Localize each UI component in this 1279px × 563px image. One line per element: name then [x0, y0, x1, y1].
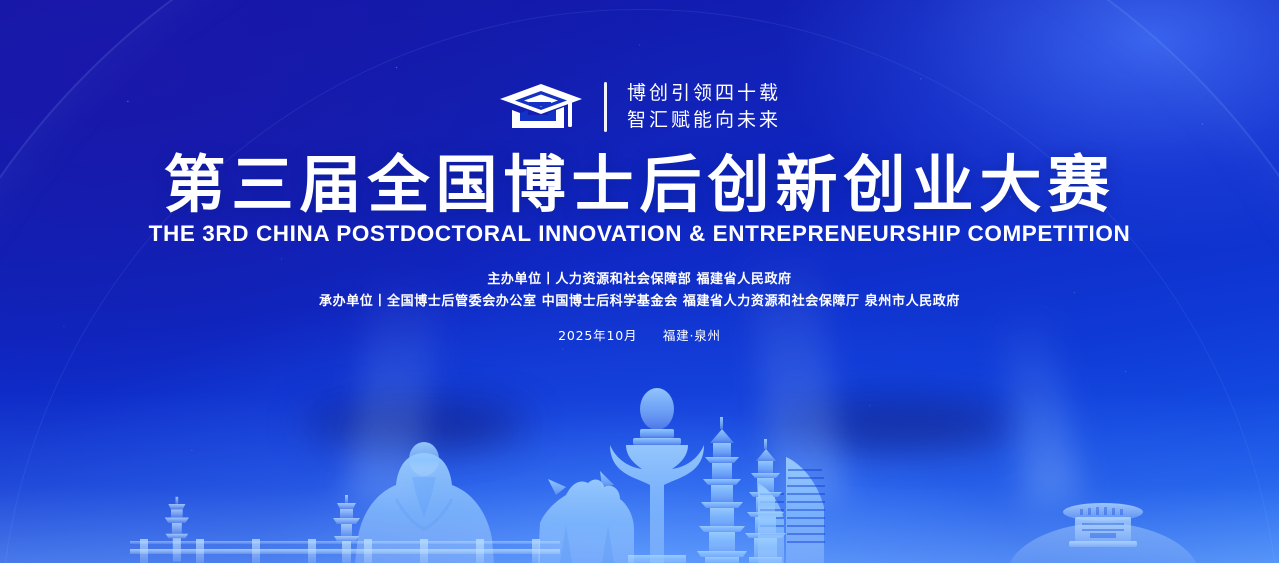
modern-arena — [1010, 503, 1196, 563]
emblem-lockup: 博创引领四十载 智汇赋能向未来 — [0, 78, 1279, 136]
city-skyline-silhouette — [0, 373, 1279, 563]
poster-content: 博创引领四十载 智汇赋能向未来 第三届全国博士后创新创业大赛 THE 3RD C… — [0, 0, 1279, 344]
event-location: 福建·泉州 — [663, 328, 721, 343]
slogan-block: 博创引领四十载 智汇赋能向未来 — [627, 81, 781, 133]
event-meta: 2025年10月 福建·泉州 — [0, 325, 1279, 344]
event-date: 2025年10月 — [558, 328, 637, 343]
slogan-line-1: 博创引领四十载 — [627, 81, 781, 106]
graduation-cap-icon — [498, 82, 584, 132]
organizers-block: 主办单位丨人力资源和社会保障部 福建省人民政府 承办单位丨全国博士后管委会办公室… — [0, 269, 1279, 313]
poster-canvas: 博创引领四十载 智汇赋能向未来 第三届全国博士后创新创业大赛 THE 3RD C… — [0, 0, 1279, 563]
organizer-line-host: 主办单位丨人力资源和社会保障部 福建省人民政府 — [0, 269, 1279, 291]
page-title-english: THE 3RD CHINA POSTDOCTORAL INNOVATION & … — [0, 220, 1279, 248]
organizer-line-coorganizer: 承办单位丨全国博士后管委会办公室 中国博士后科学基金会 福建省人力资源和社会保障… — [0, 291, 1279, 313]
twin-pagoda-tall — [697, 417, 747, 563]
vertical-divider — [604, 82, 607, 132]
page-title-chinese: 第三届全国博士后创新创业大赛 — [0, 148, 1279, 222]
slogan-line-2: 智汇赋能向未来 — [627, 108, 781, 133]
